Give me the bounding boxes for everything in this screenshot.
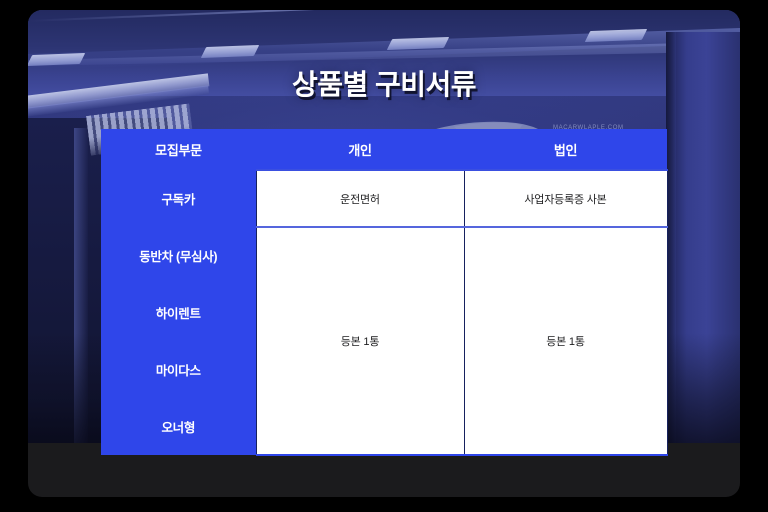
cell-personal-merged: 등본 1통 (256, 227, 464, 455)
row-label-ownertype: 오너형 (101, 398, 256, 455)
required-documents-table: 모집부문 개인 법인 구독카 운전면허 사업자등록증 사본 동반차 (무심사) … (101, 129, 668, 456)
column-header-personal: 개인 (256, 129, 464, 170)
table-header: 모집부문 개인 법인 (101, 129, 667, 170)
table-row: 구독카 운전면허 사업자등록증 사본 (101, 170, 667, 227)
screenshot-root: MACARWLAPLE.COM 상품별 구비서류 모집부문 개인 법인 (0, 0, 768, 512)
presentation-slide: MACARWLAPLE.COM 상품별 구비서류 모집부문 개인 법인 (28, 10, 740, 497)
table-row: 동반차 (무심사) 등본 1통 등본 1통 (101, 227, 667, 284)
column-header-category: 모집부문 (101, 129, 256, 170)
row-label-dongbancha: 동반차 (무심사) (101, 227, 256, 284)
column-header-corporate: 법인 (464, 129, 667, 170)
cell-corporate-gudokcar: 사업자등록증 사본 (464, 170, 667, 227)
row-label-midas: 마이다스 (101, 341, 256, 398)
cell-corporate-merged: 등본 1통 (464, 227, 667, 455)
cell-personal-gudokcar: 운전면허 (256, 170, 464, 227)
documents-table-container: 모집부문 개인 법인 구독카 운전면허 사업자등록증 사본 동반차 (무심사) … (101, 129, 667, 456)
table-body: 구독카 운전면허 사업자등록증 사본 동반차 (무심사) 등본 1통 등본 1통… (101, 170, 667, 455)
row-label-hirent: 하이렌트 (101, 284, 256, 341)
table-header-row: 모집부문 개인 법인 (101, 129, 667, 170)
row-label-gudokcar: 구독카 (101, 170, 256, 227)
slide-title: 상품별 구비서류 (28, 63, 740, 103)
ceiling-light-panel (201, 45, 259, 58)
